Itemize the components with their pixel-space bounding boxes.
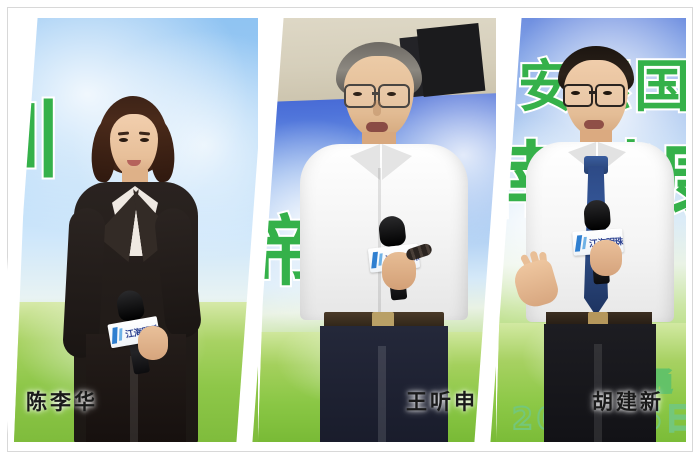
panel-right-scene: 安惠国际 南健康 期) 南通 201 9 6日—29 [496,18,686,442]
logo-bar-primary [112,327,117,344]
glasses-lens-right [378,84,410,108]
panel-middle-scene: 帝 [258,18,496,442]
photo-panel-right[interactable]: 安惠国际 南健康 期) 南通 201 9 6日—29 [496,18,686,442]
eye-right [140,138,149,142]
eye-right [603,91,612,95]
mouth [366,122,388,132]
microphone-head-icon [115,288,146,322]
logo-bar-secondary [582,237,587,249]
caption-right: 胡建新 [592,386,664,416]
logo-bar-primary [371,252,378,269]
trouser-gap [378,346,386,442]
eye-left [119,138,128,142]
nose [373,100,381,116]
logo-bar-secondary [119,328,122,341]
glasses-lens-left [344,84,376,108]
eye-left [571,91,580,95]
hand-holding-mic [138,326,168,360]
panel-left-scene: 训 [14,18,258,442]
glasses-bridge [589,91,597,94]
glasses-bridge [372,92,380,95]
caption-middle: 王听申 [406,386,478,416]
speaker-figure-hu-jianxin: 江海明珠 [518,40,678,442]
photo-panel-left[interactable]: 训 [14,18,258,442]
hand-holding-mic [590,240,622,276]
collage-image: 训 [0,0,700,459]
eye-left [353,92,362,96]
microphone-head-icon [583,199,611,231]
eye-right [387,92,396,96]
photo-panel-middle[interactable]: 帝 [258,18,496,442]
microphone-head-icon [378,215,407,248]
glasses-lens-right [595,84,625,107]
caption-left: 陈李华 [26,386,98,416]
mouth [584,120,604,129]
glasses-lens-left [563,84,593,107]
speaker-figure-wang-tingshen: 江海明珠 [294,40,472,442]
